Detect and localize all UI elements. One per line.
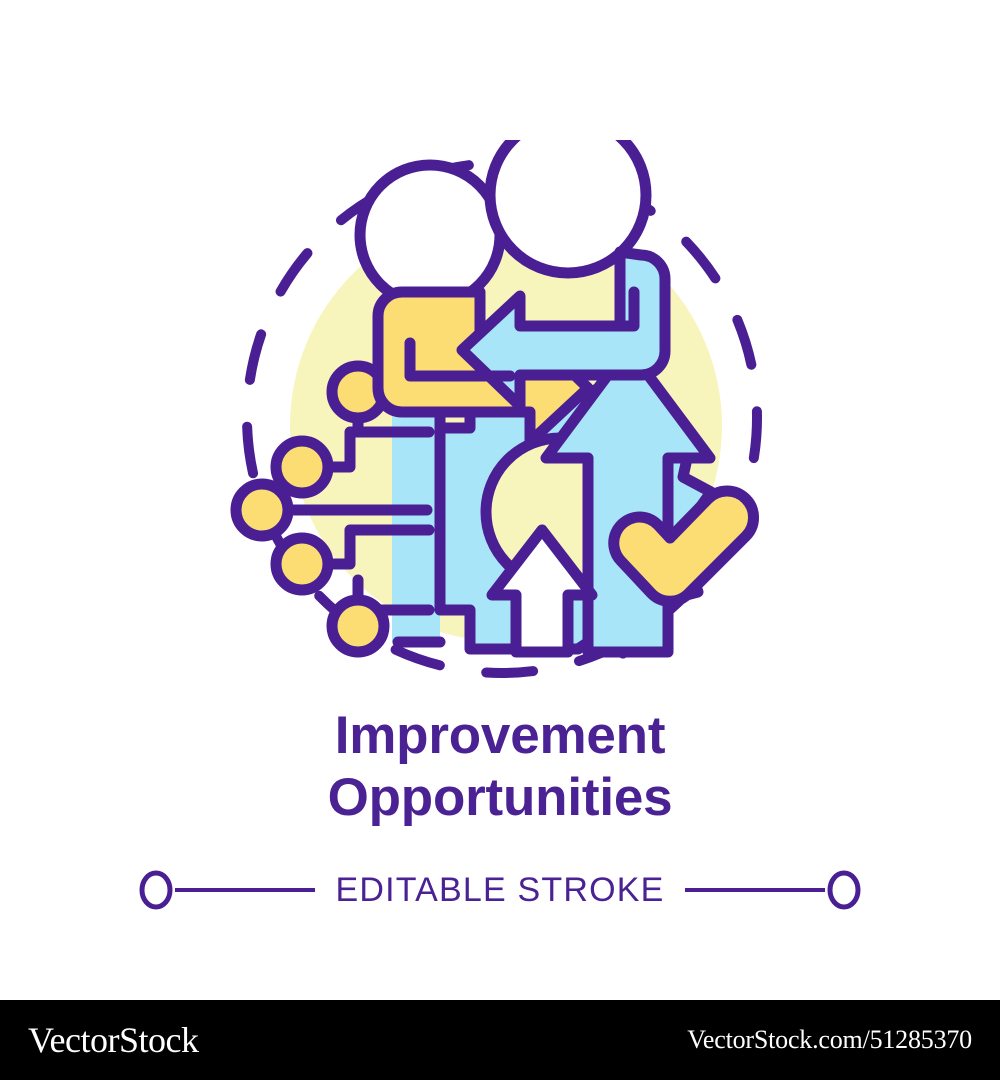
footer-bar: VectorStock VectorStock.com/51285370 xyxy=(0,1000,1000,1080)
person-head-left-icon xyxy=(360,165,500,305)
circuit-node-3 xyxy=(236,484,288,536)
editable-stroke-label: EDITABLE STROKE xyxy=(315,873,684,907)
editable-stroke-right-rule xyxy=(685,888,825,892)
circuit-node-2 xyxy=(276,441,328,493)
editable-stroke-left-rule xyxy=(175,888,315,892)
circuit-node-5 xyxy=(332,600,384,652)
editable-stroke-right-endpoint-icon xyxy=(825,868,863,912)
page-title-line-1: Improvement xyxy=(0,705,1000,767)
page-title: Improvement Opportunities xyxy=(0,705,1000,829)
artboard: Improvement Opportunities EDITABLE STROK… xyxy=(0,0,1000,1000)
editable-stroke-left-endpoint-icon xyxy=(137,868,175,912)
footer-url-label: VectorStock.com/51285370 xyxy=(687,1025,972,1055)
footer-brand-logo: VectorStock xyxy=(28,1019,198,1061)
editable-stroke-bar: EDITABLE STROKE xyxy=(0,858,1000,922)
circuit-node-4 xyxy=(276,538,328,590)
page-title-line-2: Opportunities xyxy=(0,767,1000,829)
illustration-final xyxy=(230,140,770,680)
